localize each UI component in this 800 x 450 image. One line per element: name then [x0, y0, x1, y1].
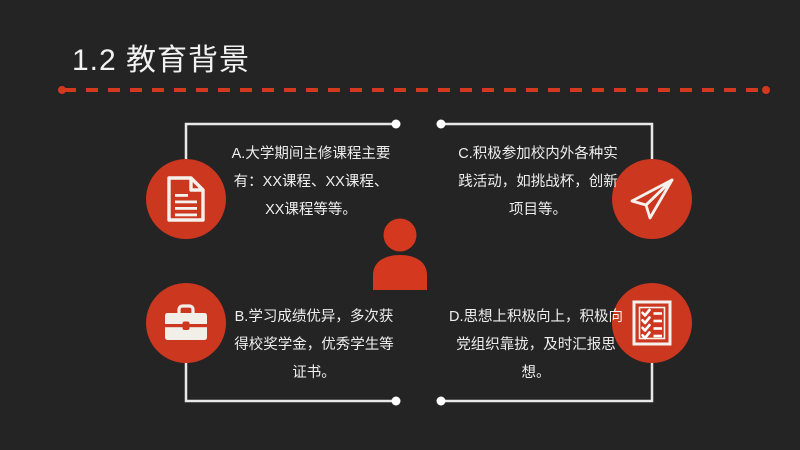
- item-text-d: D.思想上积极向上，积极向党组织靠拢，及时汇报思想。: [448, 303, 624, 387]
- item-text-a: A.大学期间主修课程主要有：XX课程、XX课程、XX课程等等。: [225, 140, 397, 224]
- slide-canvas: 1.2 教育背景: [0, 0, 800, 450]
- connector-b-dot: [392, 397, 401, 406]
- person-icon: [370, 218, 430, 290]
- document-icon: [165, 176, 207, 222]
- checklist-icon: [631, 299, 673, 347]
- briefcase-icon: [162, 302, 210, 344]
- item-text-b: B.学习成绩优异，多次获得校奖学金，优秀学生等证书。: [228, 303, 400, 387]
- paper-plane-icon: [628, 176, 676, 222]
- connector-d-dot: [437, 397, 446, 406]
- item-text-c: C.积极参加校内外各种实践活动，如挑战杯，创新项目等。: [452, 140, 624, 224]
- item-icon-circle-b[interactable]: [146, 283, 226, 363]
- connector-a-dot: [392, 120, 401, 129]
- connector-c-dot: [437, 120, 446, 129]
- item-icon-circle-d[interactable]: [612, 283, 692, 363]
- item-icon-circle-c[interactable]: [612, 159, 692, 239]
- center-person-figure: [370, 218, 430, 290]
- item-icon-circle-a[interactable]: [146, 159, 226, 239]
